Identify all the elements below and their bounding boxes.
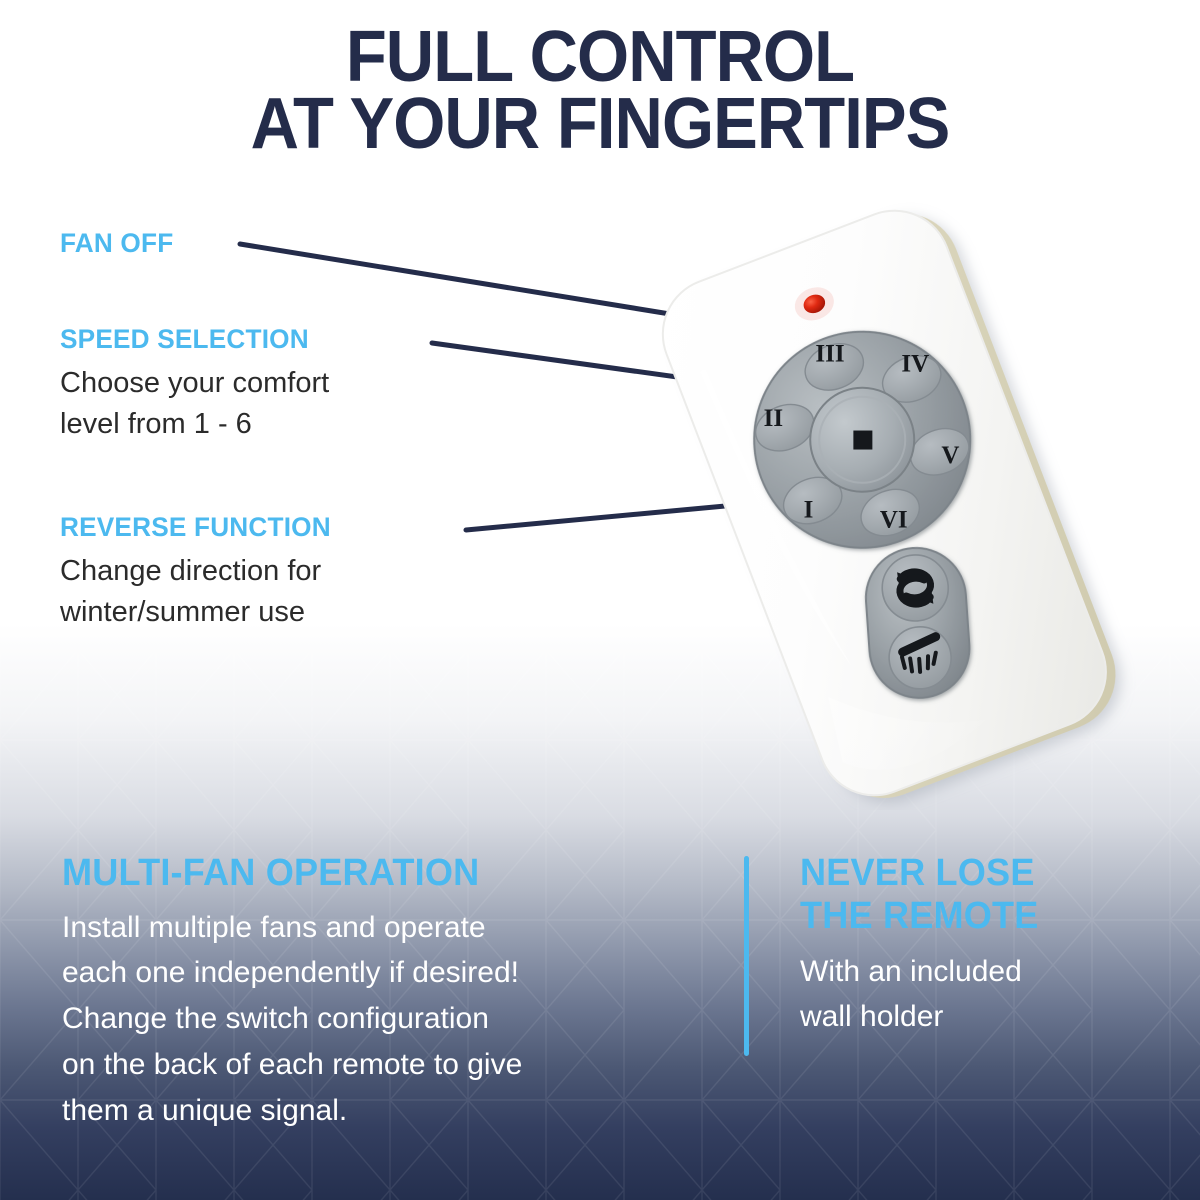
block-never-lose-the-remote-heading: NEVER LOSE THE REMOTE: [800, 852, 1152, 937]
page-title: FULL CONTROL AT YOUR FINGERTIPS: [42, 24, 1158, 158]
block-never-lose-the-remote: NEVER LOSE THE REMOTE With an included w…: [800, 852, 1170, 1039]
section-divider: [744, 856, 749, 1056]
callout-reverse-function: REVERSE FUNCTION Change direction for wi…: [60, 512, 339, 633]
remote-control-device: III IV V VI I II: [590, 190, 1200, 810]
callout-reverse-function-heading: REVERSE FUNCTION: [60, 512, 331, 543]
infographic-canvas: FULL CONTROL AT YOUR FINGERTIPS FAN OFF …: [0, 0, 1200, 1200]
callout-fan-off-heading: FAN OFF: [60, 228, 173, 259]
callout-speed-selection-body: Choose your comfort level from 1 - 6: [60, 363, 329, 445]
block-multi-fan-operation-body: Install multiple fans and operate each o…: [62, 905, 742, 1134]
block-never-lose-the-remote-body: With an included wall holder: [800, 949, 1170, 1039]
callout-reverse-function-body: Change direction for winter/summer use: [60, 551, 339, 633]
block-multi-fan-operation: MULTI-FAN OPERATION Install multiple fan…: [62, 852, 742, 1134]
callout-speed-selection-heading: SPEED SELECTION: [60, 324, 321, 355]
speed-label-III: III: [815, 340, 844, 367]
speed-label-I: I: [804, 497, 814, 524]
speed-label-IV: IV: [901, 351, 929, 378]
speed-label-II: II: [764, 405, 783, 432]
speed-label-V: V: [941, 442, 959, 469]
speed-label-VI: VI: [880, 507, 908, 534]
callout-fan-off: FAN OFF: [60, 228, 177, 259]
function-pad: [863, 545, 973, 702]
fan-off-square-icon: [853, 431, 872, 450]
block-multi-fan-operation-heading: MULTI-FAN OPERATION: [62, 852, 708, 895]
callout-speed-selection: SPEED SELECTION Choose your comfort leve…: [60, 324, 329, 445]
